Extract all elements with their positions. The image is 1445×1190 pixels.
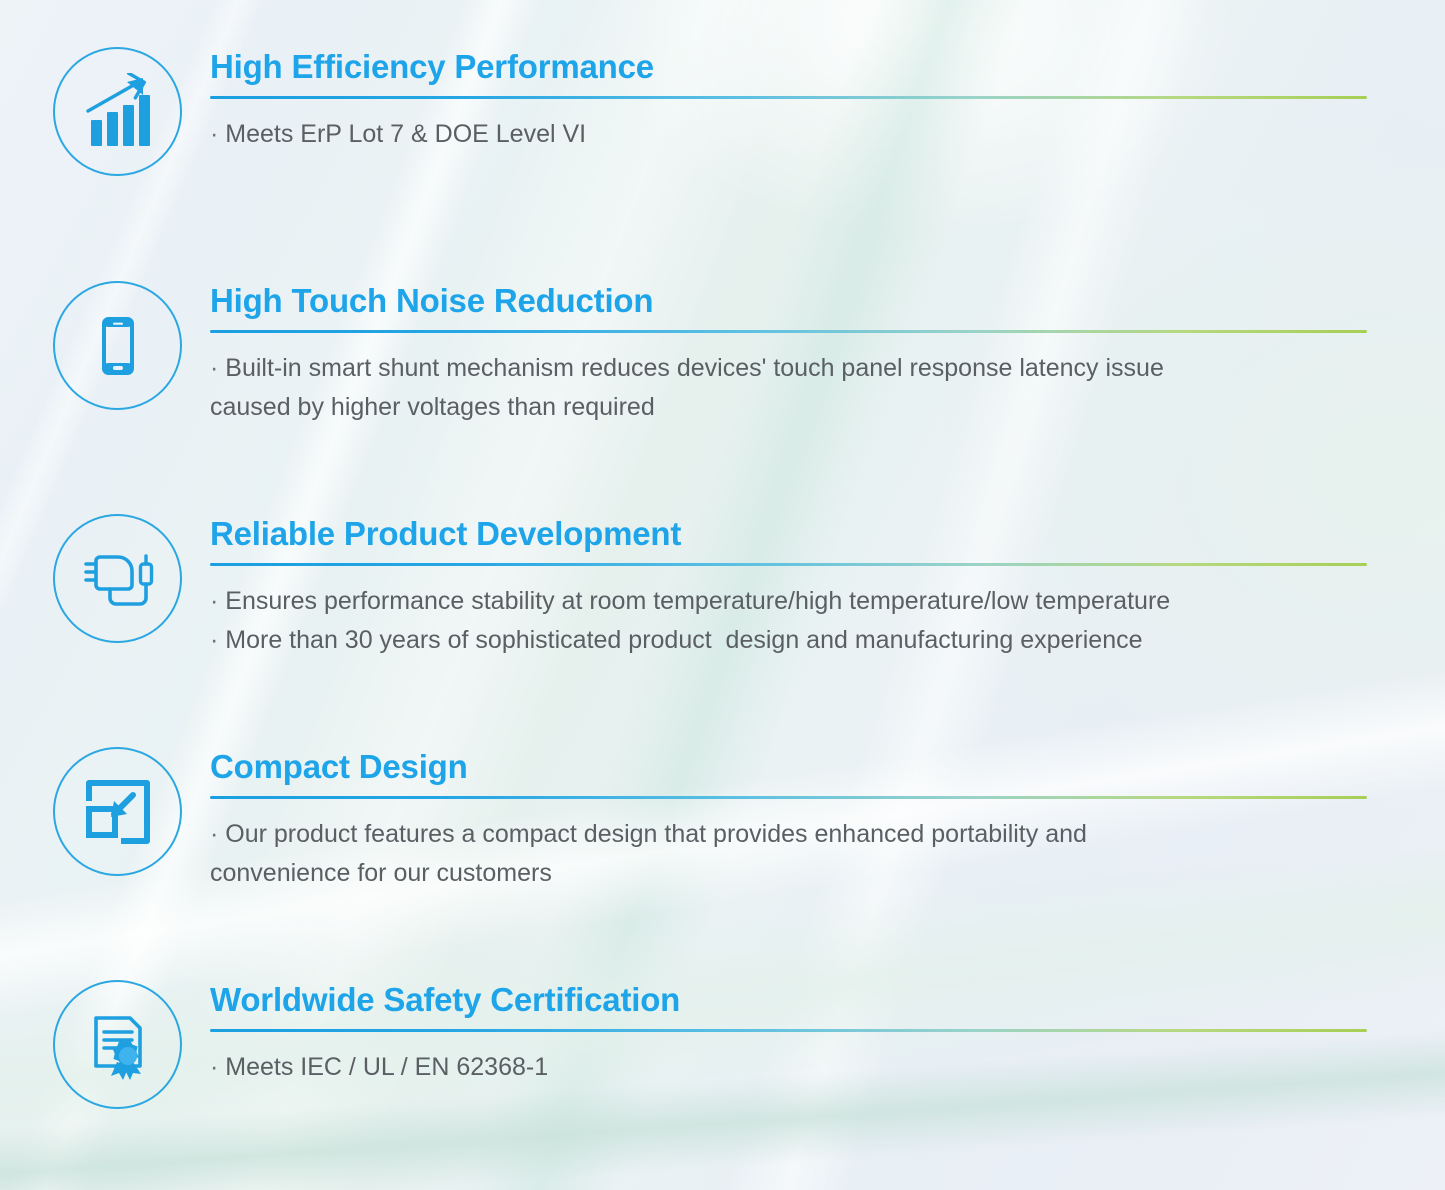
feature-bullet-line: · Ensures performance stability at room … xyxy=(210,582,1370,621)
bullet-mark: · xyxy=(210,120,218,148)
bullet-mark: · xyxy=(210,354,218,382)
bullet-text: Our product features a compact design th… xyxy=(210,820,1087,887)
bar-chart-growth-icon xyxy=(53,47,182,176)
feature-bullet-line: · Meets ErP Lot 7 & DOE Level VI xyxy=(210,115,1370,154)
feature-bullet-line: · More than 30 years of sophisticated pr… xyxy=(210,621,1370,660)
feature-body: High Touch Noise Reduction · Built-in sm… xyxy=(210,281,1370,427)
feature-body: High Efficiency Performance · Meets ErP … xyxy=(210,47,1370,154)
feature-list: High Efficiency Performance · Meets ErP … xyxy=(0,0,1445,1190)
feature-divider xyxy=(210,96,1367,99)
feature-body: Worldwide Safety Certification · Meets I… xyxy=(210,980,1370,1087)
feature-title: High Efficiency Performance xyxy=(210,47,1370,87)
compact-resize-icon xyxy=(53,747,182,876)
feature-title: Reliable Product Development xyxy=(210,514,1370,554)
feature-title: High Touch Noise Reduction xyxy=(210,281,1370,321)
feature-divider xyxy=(210,330,1367,333)
feature-divider xyxy=(210,796,1367,799)
feature-title: Worldwide Safety Certification xyxy=(210,980,1370,1020)
bullet-mark: · xyxy=(210,626,218,654)
feature-body: Compact Design · Our product features a … xyxy=(210,747,1370,893)
feature-bullets: · Our product features a compact design … xyxy=(210,815,1370,893)
feature-bullets: · Built-in smart shunt mechanism reduces… xyxy=(210,349,1370,427)
bullet-text: Ensures performance stability at room te… xyxy=(225,587,1170,615)
feature-divider xyxy=(210,1029,1367,1032)
feature-bullets: · Meets ErP Lot 7 & DOE Level VI xyxy=(210,115,1370,154)
bullet-text: Meets ErP Lot 7 & DOE Level VI xyxy=(225,120,586,148)
bullet-text: More than 30 years of sophisticated prod… xyxy=(225,626,1142,654)
smartphone-icon xyxy=(53,281,182,410)
feature-bullets: · Meets IEC / UL / EN 62368-1 xyxy=(210,1048,1370,1087)
feature-bullet-line: · Our product features a compact design … xyxy=(210,815,1370,893)
feature-bullets: · Ensures performance stability at room … xyxy=(210,582,1370,660)
bullet-mark: · xyxy=(210,587,218,615)
bullet-mark: · xyxy=(210,1053,218,1081)
power-adapter-icon xyxy=(53,514,182,643)
feature-divider xyxy=(210,563,1367,566)
bullet-text: Meets IEC / UL / EN 62368-1 xyxy=(225,1053,548,1081)
feature-body: Reliable Product Development · Ensures p… xyxy=(210,514,1370,660)
feature-title: Compact Design xyxy=(210,747,1370,787)
bullet-text: Built-in smart shunt mechanism reduces d… xyxy=(210,354,1164,421)
certificate-award-icon xyxy=(53,980,182,1109)
feature-bullet-line: · Meets IEC / UL / EN 62368-1 xyxy=(210,1048,1370,1087)
bullet-mark: · xyxy=(210,820,218,848)
feature-bullet-line: · Built-in smart shunt mechanism reduces… xyxy=(210,349,1370,427)
